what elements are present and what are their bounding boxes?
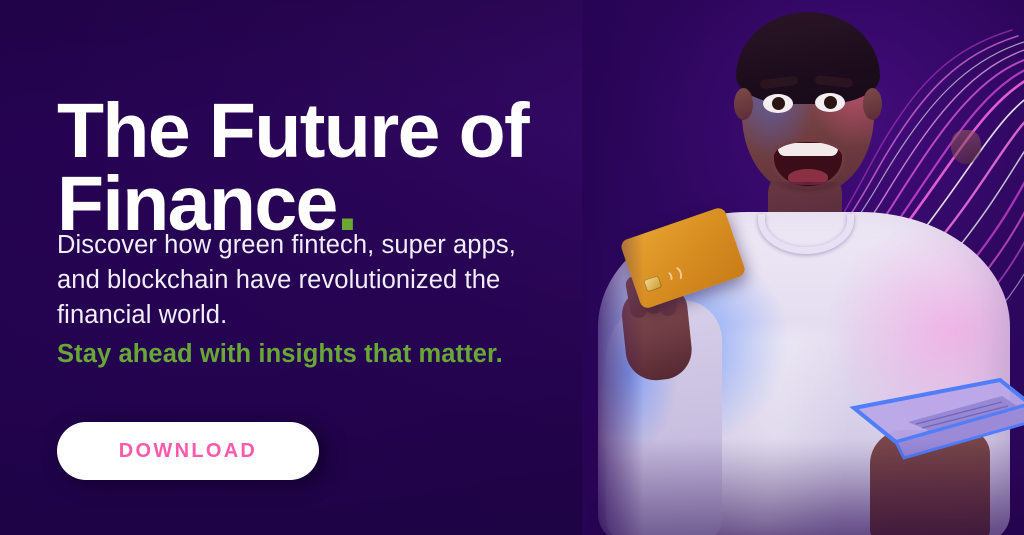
- tagline: Stay ahead with insights that matter.: [57, 337, 597, 371]
- subcopy-line-3: financial world.: [57, 301, 227, 329]
- headline: The Future of Finance.: [57, 95, 597, 241]
- hero-photo: [582, 0, 1024, 535]
- photo-subject: [582, 0, 1024, 535]
- subcopy: Discover how green fintech, super apps, …: [57, 228, 597, 333]
- subject-hair: [736, 12, 880, 104]
- subject-ear-left: [734, 88, 753, 120]
- card-chip-icon: [643, 275, 662, 293]
- subject-eye-right: [815, 93, 845, 112]
- subject-teeth: [778, 143, 838, 156]
- subcopy-line-1: Discover how green fintech, super apps,: [57, 231, 516, 259]
- download-button[interactable]: DOWNLOAD: [57, 422, 319, 480]
- pupil-left: [772, 97, 785, 110]
- laptop: [850, 378, 1024, 498]
- pupil-right: [824, 96, 837, 109]
- subject-eye-left: [763, 94, 793, 113]
- subcopy-line-2: and blockchain have revolutionized the: [57, 266, 500, 294]
- promo-banner: The Future of Finance. Discover how gree…: [0, 0, 1024, 535]
- chin-shadow: [760, 182, 856, 208]
- banner-content: The Future of Finance. Discover how gree…: [57, 0, 587, 535]
- subject-nose: [951, 130, 981, 164]
- subject-ear-right: [863, 88, 882, 120]
